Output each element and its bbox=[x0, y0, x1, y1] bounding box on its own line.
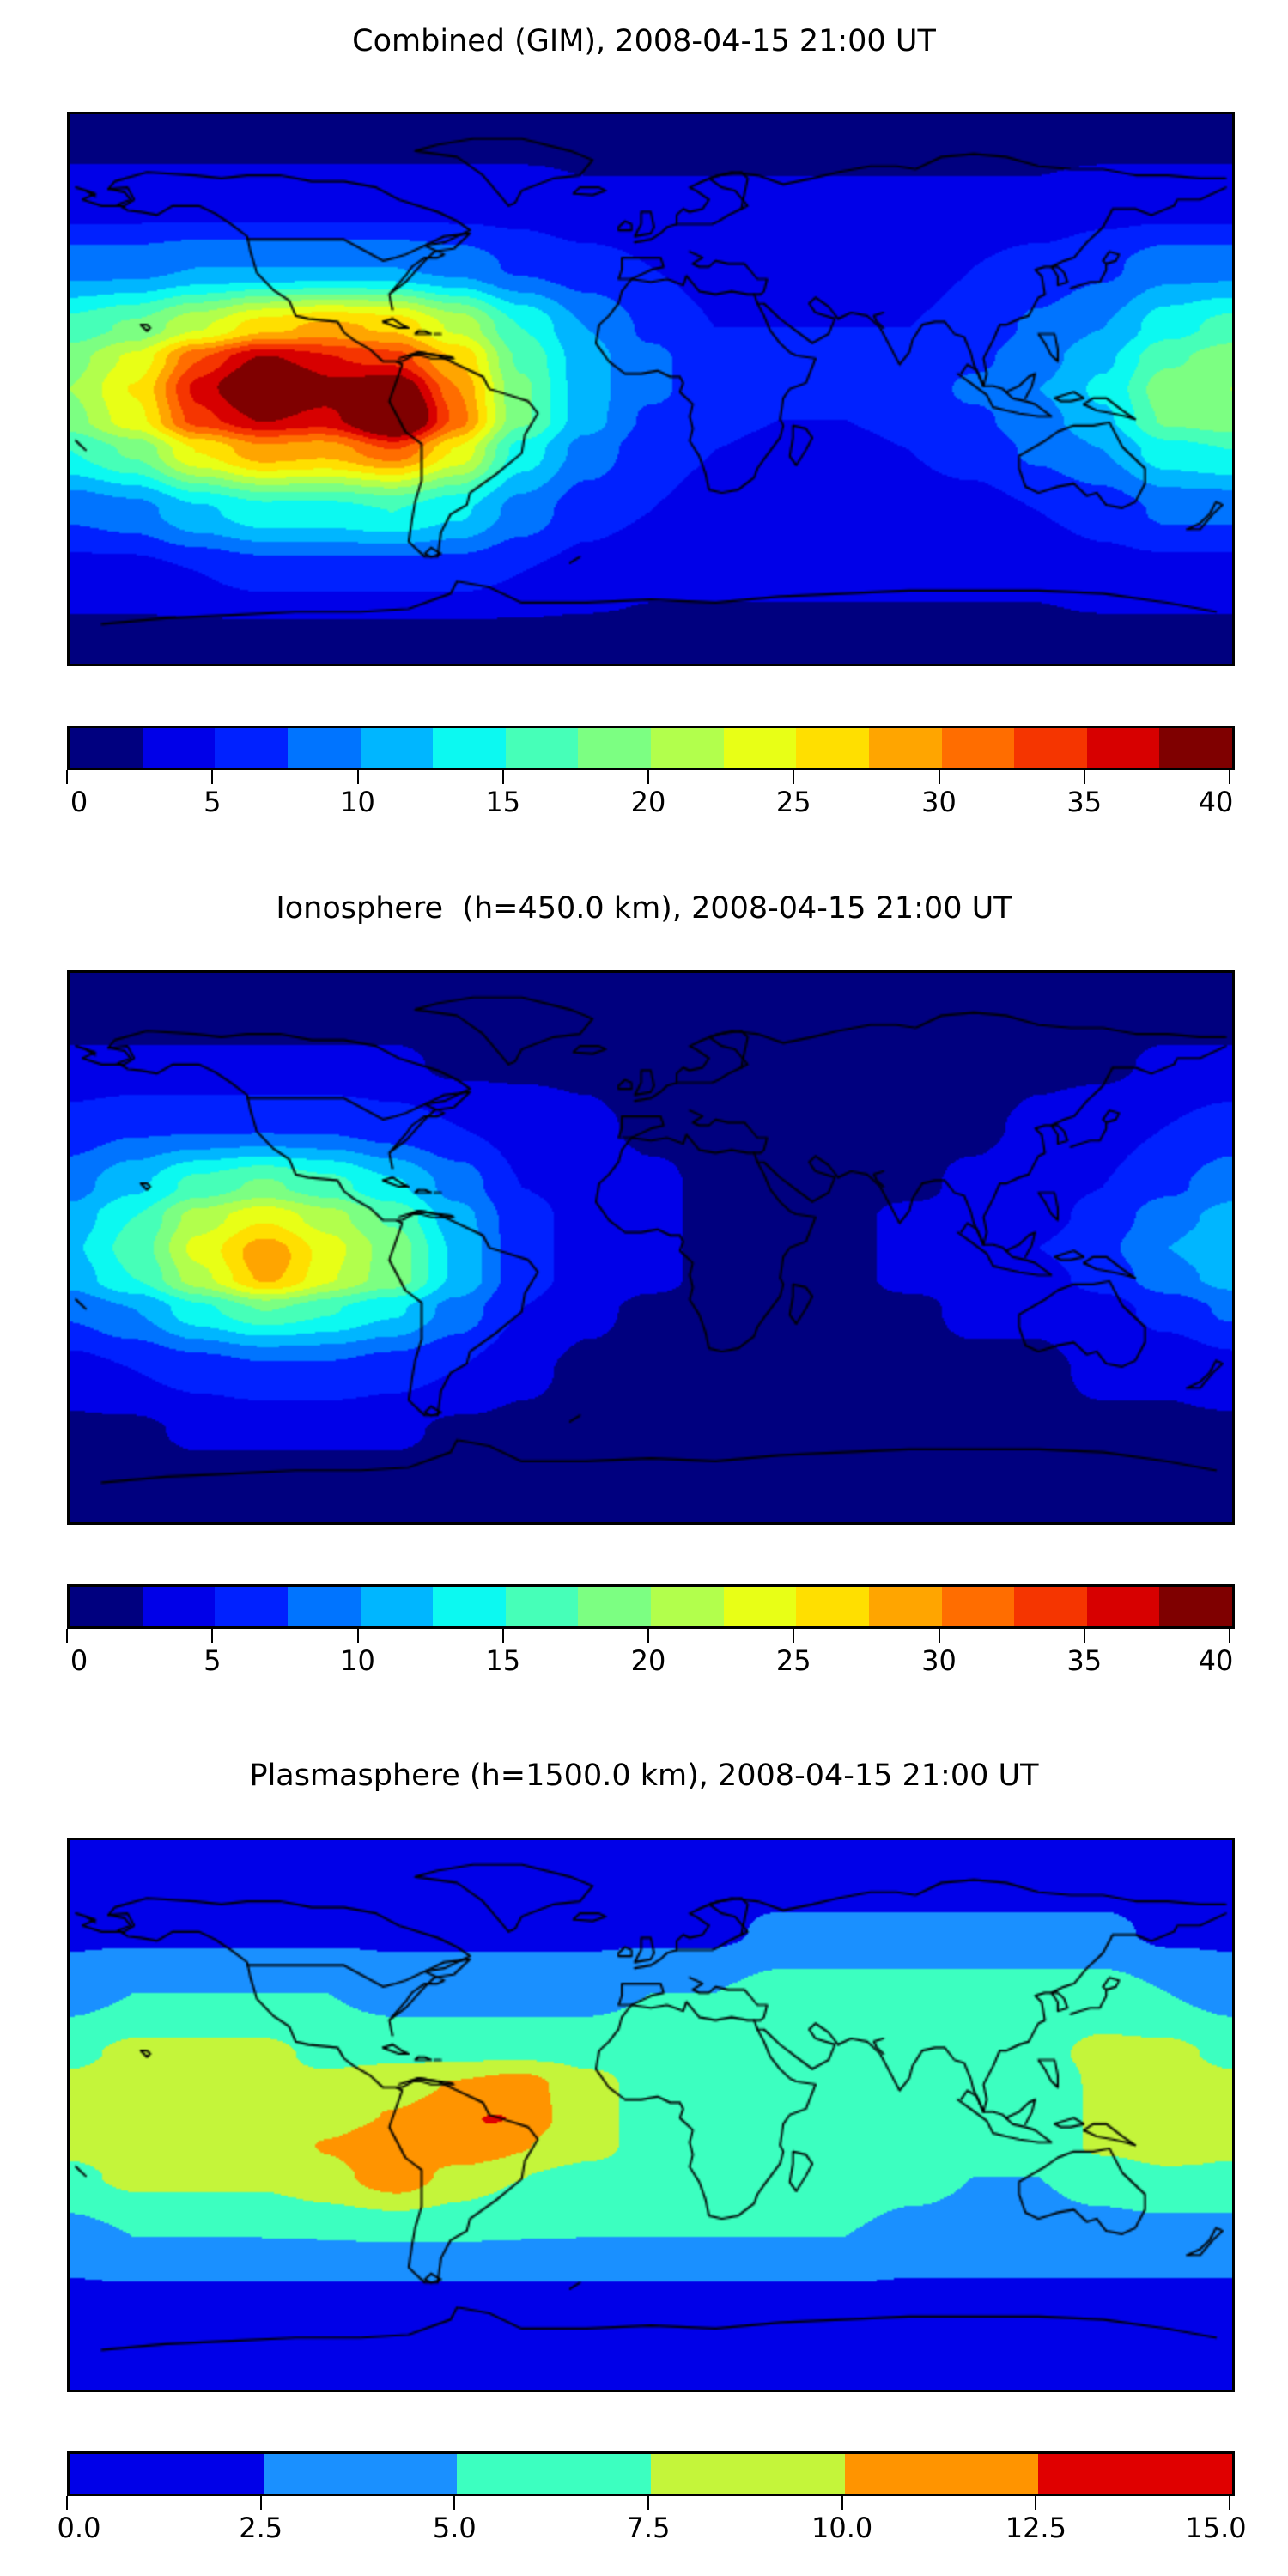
colorbar-band-13 bbox=[1014, 728, 1087, 768]
colorbar-band-15 bbox=[1159, 1587, 1232, 1626]
colorbar-tickmark bbox=[66, 2496, 68, 2510]
colorbar-tick-label: 20 bbox=[631, 786, 666, 818]
map-combined-gim bbox=[67, 112, 1235, 666]
colorbar-tick-label: 35 bbox=[1066, 1644, 1102, 1677]
colorbar-band-0 bbox=[70, 2454, 264, 2494]
colorbar-tickmark bbox=[647, 770, 649, 784]
colorbar-band-0 bbox=[70, 728, 143, 768]
colorbar-tickmark bbox=[939, 1629, 940, 1643]
colorbar-tickmark bbox=[1084, 1629, 1085, 1643]
colorbar-tick-label: 15 bbox=[485, 786, 520, 818]
colorbar-band-4 bbox=[845, 2454, 1039, 2494]
colorbar-band-2 bbox=[215, 728, 288, 768]
panel-title-plasmasphere: Plasmasphere (h=1500.0 km), 2008-04-15 2… bbox=[0, 1759, 1288, 1793]
colorbar-tick-label: 30 bbox=[921, 786, 957, 818]
colorbar-band-1 bbox=[143, 1587, 216, 1626]
colorbar-ticks-plasmasphere: 0.02.55.07.510.012.515.0 bbox=[64, 2496, 1232, 2546]
colorbar-band-8 bbox=[651, 1587, 724, 1626]
colorbar-band-15 bbox=[1159, 728, 1232, 768]
colorbar-band-14 bbox=[1087, 1587, 1160, 1626]
colorbar-band-11 bbox=[869, 1587, 942, 1626]
colorbar-strip-combined-gim bbox=[67, 726, 1235, 770]
colorbar-ticks-combined-gim: 0510152025303540 bbox=[64, 770, 1232, 820]
colorbar-band-3 bbox=[288, 1587, 361, 1626]
colorbar-tick-label: 5 bbox=[204, 1644, 221, 1677]
colorbar-tickmark bbox=[793, 1629, 794, 1643]
colorbar-tick-label: 40 bbox=[1199, 786, 1234, 818]
colorbar-band-5 bbox=[433, 1587, 506, 1626]
colorbar-band-5 bbox=[1038, 2454, 1232, 2494]
colorbar-tick-label: 35 bbox=[1066, 786, 1102, 818]
map-ionosphere bbox=[67, 970, 1235, 1525]
colorbar-combined-gim: 0510152025303540 bbox=[67, 726, 1230, 820]
colorbar-tick-label: 20 bbox=[631, 1644, 666, 1677]
colorbar-tick-label: 25 bbox=[776, 1644, 811, 1677]
colorbar-tickmark bbox=[357, 1629, 359, 1643]
colorbar-band-3 bbox=[651, 2454, 845, 2494]
colorbar-tick-label: 15 bbox=[485, 1644, 520, 1677]
tec-figure: Combined (GIM), 2008-04-15 21:00 UT 0510… bbox=[0, 0, 1288, 2576]
colorbar-tickmark bbox=[66, 1629, 68, 1643]
colorbar-tickmark bbox=[260, 2496, 262, 2510]
colorbar-tickmark bbox=[357, 770, 359, 784]
colorbar-tick-label: 25 bbox=[776, 786, 811, 818]
colorbar-plasmasphere: 0.02.55.07.510.012.515.0 bbox=[67, 2451, 1230, 2546]
colorbar-band-13 bbox=[1014, 1587, 1087, 1626]
colorbar-band-0 bbox=[70, 1587, 143, 1626]
colorbar-tick-label: 5.0 bbox=[433, 2512, 477, 2544]
colorbar-tick-label: 15.0 bbox=[1185, 2512, 1246, 2544]
colorbar-tick-label: 10.0 bbox=[811, 2512, 872, 2544]
colorbar-band-5 bbox=[433, 728, 506, 768]
colorbar-band-11 bbox=[869, 728, 942, 768]
panel-title-combined-gim: Combined (GIM), 2008-04-15 21:00 UT bbox=[0, 24, 1288, 58]
colorbar-band-7 bbox=[578, 1587, 651, 1626]
colorbar-band-12 bbox=[942, 728, 1015, 768]
colorbar-band-3 bbox=[288, 728, 361, 768]
colorbar-tickmark bbox=[1084, 770, 1085, 784]
colorbar-tickmark bbox=[939, 770, 940, 784]
panel-title-ionosphere: Ionosphere (h=450.0 km), 2008-04-15 21:0… bbox=[0, 891, 1288, 926]
colorbar-tickmark bbox=[647, 1629, 649, 1643]
colorbar-tickmark bbox=[1229, 2496, 1230, 2510]
colorbar-tickmark bbox=[1035, 2496, 1036, 2510]
colorbar-tick-label: 12.5 bbox=[1005, 2512, 1066, 2544]
colorbar-tickmark bbox=[453, 2496, 455, 2510]
colorbar-band-4 bbox=[361, 1587, 434, 1626]
colorbar-band-4 bbox=[361, 728, 434, 768]
colorbar-band-12 bbox=[942, 1587, 1015, 1626]
colorbar-tickmark bbox=[793, 770, 794, 784]
colorbar-band-9 bbox=[724, 1587, 797, 1626]
colorbar-tickmark bbox=[502, 770, 504, 784]
colorbar-tick-label: 10 bbox=[340, 786, 375, 818]
colorbar-tick-label: 5 bbox=[204, 786, 221, 818]
colorbar-band-2 bbox=[215, 1587, 288, 1626]
map-canvas-ionosphere bbox=[70, 973, 1232, 1522]
colorbar-band-10 bbox=[796, 728, 869, 768]
colorbar-tickmark bbox=[647, 2496, 649, 2510]
colorbar-band-14 bbox=[1087, 728, 1160, 768]
colorbar-tickmark bbox=[841, 2496, 843, 2510]
colorbar-tick-label: 10 bbox=[340, 1644, 375, 1677]
colorbar-band-9 bbox=[724, 728, 797, 768]
colorbar-band-7 bbox=[578, 728, 651, 768]
colorbar-tick-label: 7.5 bbox=[627, 2512, 671, 2544]
colorbar-band-2 bbox=[457, 2454, 651, 2494]
colorbar-tick-label: 0.0 bbox=[58, 2512, 101, 2544]
colorbar-tick-label: 2.5 bbox=[239, 2512, 283, 2544]
colorbar-tickmark bbox=[211, 1629, 213, 1643]
colorbar-ionosphere: 0510152025303540 bbox=[67, 1584, 1230, 1679]
colorbar-tick-label: 30 bbox=[921, 1644, 957, 1677]
colorbar-band-10 bbox=[796, 1587, 869, 1626]
colorbar-tickmark bbox=[211, 770, 213, 784]
colorbar-tick-label: 40 bbox=[1199, 1644, 1234, 1677]
map-canvas-combined-gim bbox=[70, 114, 1232, 664]
colorbar-tickmark bbox=[502, 1629, 504, 1643]
colorbar-tickmark bbox=[66, 770, 68, 784]
colorbar-tick-label: 0 bbox=[70, 786, 88, 818]
colorbar-tick-label: 0 bbox=[70, 1644, 88, 1677]
map-canvas-plasmasphere bbox=[70, 1840, 1232, 2390]
map-plasmasphere bbox=[67, 1838, 1235, 2392]
colorbar-band-1 bbox=[143, 728, 216, 768]
colorbar-tickmark bbox=[1229, 770, 1230, 784]
colorbar-band-6 bbox=[506, 728, 579, 768]
colorbar-strip-plasmasphere bbox=[67, 2451, 1235, 2496]
colorbar-tickmark bbox=[1229, 1629, 1230, 1643]
colorbar-band-6 bbox=[506, 1587, 579, 1626]
colorbar-ticks-ionosphere: 0510152025303540 bbox=[64, 1629, 1232, 1679]
colorbar-band-8 bbox=[651, 728, 724, 768]
colorbar-band-1 bbox=[264, 2454, 458, 2494]
colorbar-strip-ionosphere bbox=[67, 1584, 1235, 1629]
